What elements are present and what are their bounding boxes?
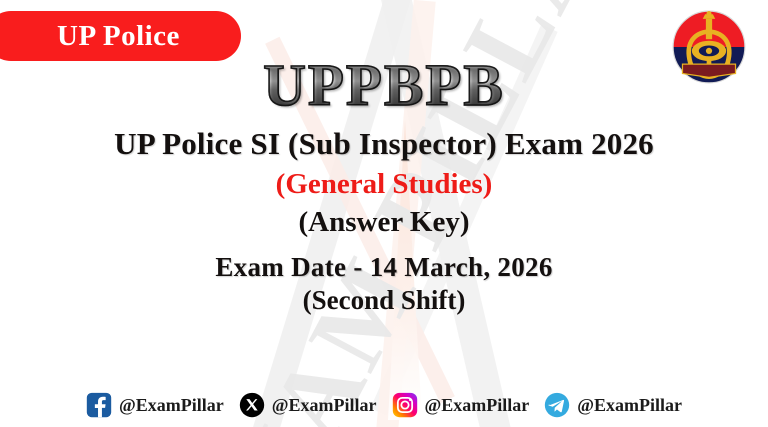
social-links-bar: @ExamPillar @ExamPillar bbox=[0, 392, 768, 418]
facebook-icon[interactable] bbox=[86, 392, 112, 418]
subject-line: (General Studies) bbox=[0, 168, 768, 201]
up-police-tag-label: UP Police bbox=[57, 22, 180, 51]
instagram-icon[interactable] bbox=[392, 392, 418, 418]
social-handle-telegram: @ExamPillar bbox=[577, 396, 682, 414]
social-handle-facebook: @ExamPillar bbox=[119, 396, 224, 414]
exam-banner: EXAM PILLAR UP Police bbox=[0, 0, 768, 427]
x-twitter-icon[interactable] bbox=[239, 392, 265, 418]
exam-name-line: UP Police SI (Sub Inspector) Exam 2026 bbox=[0, 126, 768, 162]
page-title: UPPBPB bbox=[0, 55, 768, 117]
social-handle-instagram: @ExamPillar bbox=[425, 396, 530, 414]
social-link-telegram[interactable]: @ExamPillar bbox=[544, 392, 682, 418]
exam-shift-line: (Second Shift) bbox=[0, 285, 768, 316]
telegram-icon[interactable] bbox=[544, 392, 570, 418]
social-handle-x: @ExamPillar bbox=[272, 396, 377, 414]
answer-key-line: (Answer Key) bbox=[0, 206, 768, 239]
social-link-facebook[interactable]: @ExamPillar bbox=[86, 392, 224, 418]
up-police-tag: UP Police bbox=[0, 11, 241, 61]
exam-date-line: Exam Date - 14 March, 2026 bbox=[0, 252, 768, 283]
social-link-x[interactable]: @ExamPillar bbox=[239, 392, 377, 418]
social-link-instagram[interactable]: @ExamPillar bbox=[392, 392, 530, 418]
up-police-emblem-icon bbox=[670, 8, 748, 86]
